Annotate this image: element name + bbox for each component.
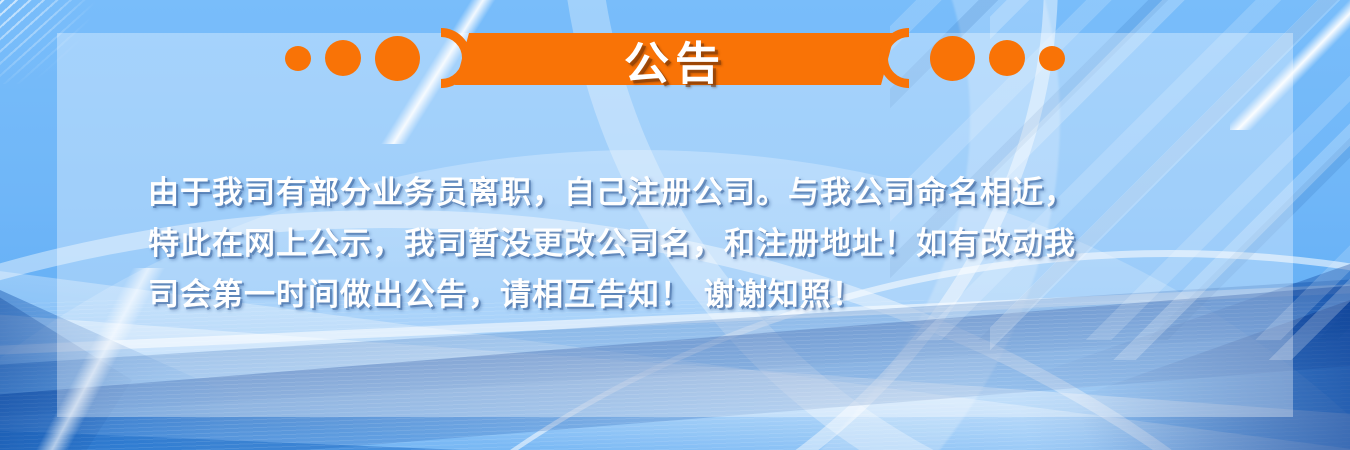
dot-group-right: [923, 25, 1072, 91]
announcement-line: 由于我司有部分业务员离职，自己注册公司。与我公司命名相近，: [148, 168, 1238, 219]
announcement-banner-image: 公告 由于我司有部分业务员离职，自己注册公司。与我公司命名相近， 特此在网上公示…: [0, 0, 1350, 450]
dot-small-icon: [1039, 46, 1065, 71]
dot-large-icon: [930, 36, 975, 81]
announcement-body: 由于我司有部分业务员离职，自己注册公司。与我公司命名相近， 特此在网上公示，我司…: [148, 168, 1238, 321]
announcement-line: 特此在网上公示，我司暂没更改公司名，和注册地址！如有改动我: [148, 219, 1238, 270]
background-ribbon-e: [0, 424, 1350, 450]
announcement-line: 司会第一时间做出公告，请相互告知！ 谢谢知照！: [148, 270, 1238, 321]
title-banner: 公告: [0, 25, 1350, 91]
dot-medium-icon: [989, 40, 1025, 76]
page-title: 公告: [0, 33, 1350, 85]
